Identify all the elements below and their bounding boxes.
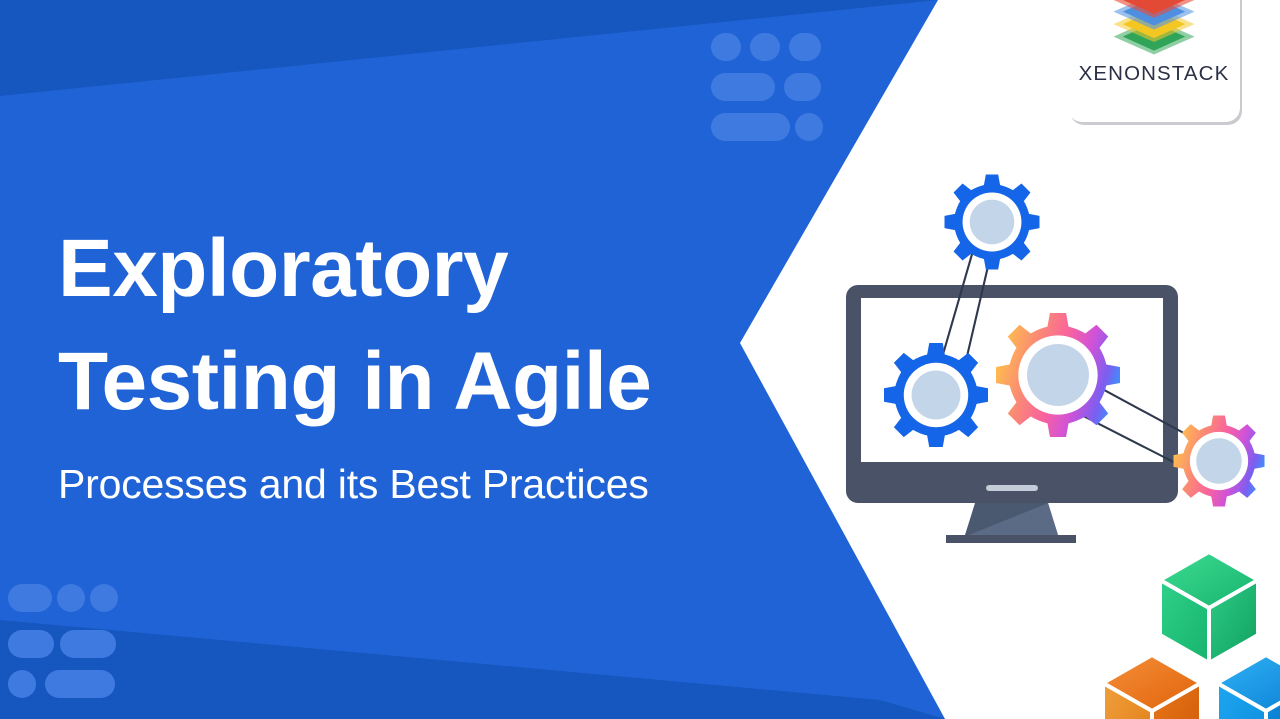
pill-tr-r2-c2 [784, 73, 821, 101]
pill-bl-r1-c3 [90, 584, 118, 612]
pill-tr-r1-c3 [789, 33, 821, 61]
gear-gradient-right [1174, 416, 1265, 507]
page-title: Exploratory Testing in Agile [58, 212, 748, 438]
pill-tr-r1-c1 [711, 33, 741, 61]
pill-tr-r3-c1 [711, 113, 790, 141]
headline-block: Exploratory Testing in Agile Processes a… [58, 212, 748, 510]
pill-bl-r2-c1 [8, 630, 54, 658]
stacked-layers-icon [1106, 0, 1202, 60]
gear-gradient-main [996, 313, 1120, 437]
cube-blue [1217, 655, 1280, 719]
pill-grid-top-right [711, 33, 823, 141]
pill-tr-r3-c2 [795, 113, 823, 141]
brand-logo-card[interactable]: XENONSTACK [1068, 0, 1240, 122]
cube-green [1160, 552, 1258, 663]
poster-canvas: Exploratory Testing in Agile Processes a… [0, 0, 1280, 719]
gear-blue-left [884, 343, 988, 447]
pill-bl-r3-c2 [45, 670, 115, 698]
pill-tr-r1-c2 [750, 33, 780, 61]
pill-bl-r3-c1 [8, 670, 36, 698]
monitor-chin-bar [986, 485, 1038, 491]
pill-bl-r1-c2 [57, 584, 85, 612]
monitor-base [946, 535, 1076, 543]
gear-blue-top [945, 175, 1040, 270]
brand-name: XENONSTACK [1068, 62, 1240, 86]
pill-tr-r2-c1 [711, 73, 775, 101]
pill-bl-r1-c1 [8, 584, 52, 612]
page-subtitle: Processes and its Best Practices [58, 460, 748, 509]
cube-orange [1103, 655, 1201, 719]
pill-grid-bottom-left [8, 584, 118, 698]
pill-bl-r2-c2 [60, 630, 116, 658]
